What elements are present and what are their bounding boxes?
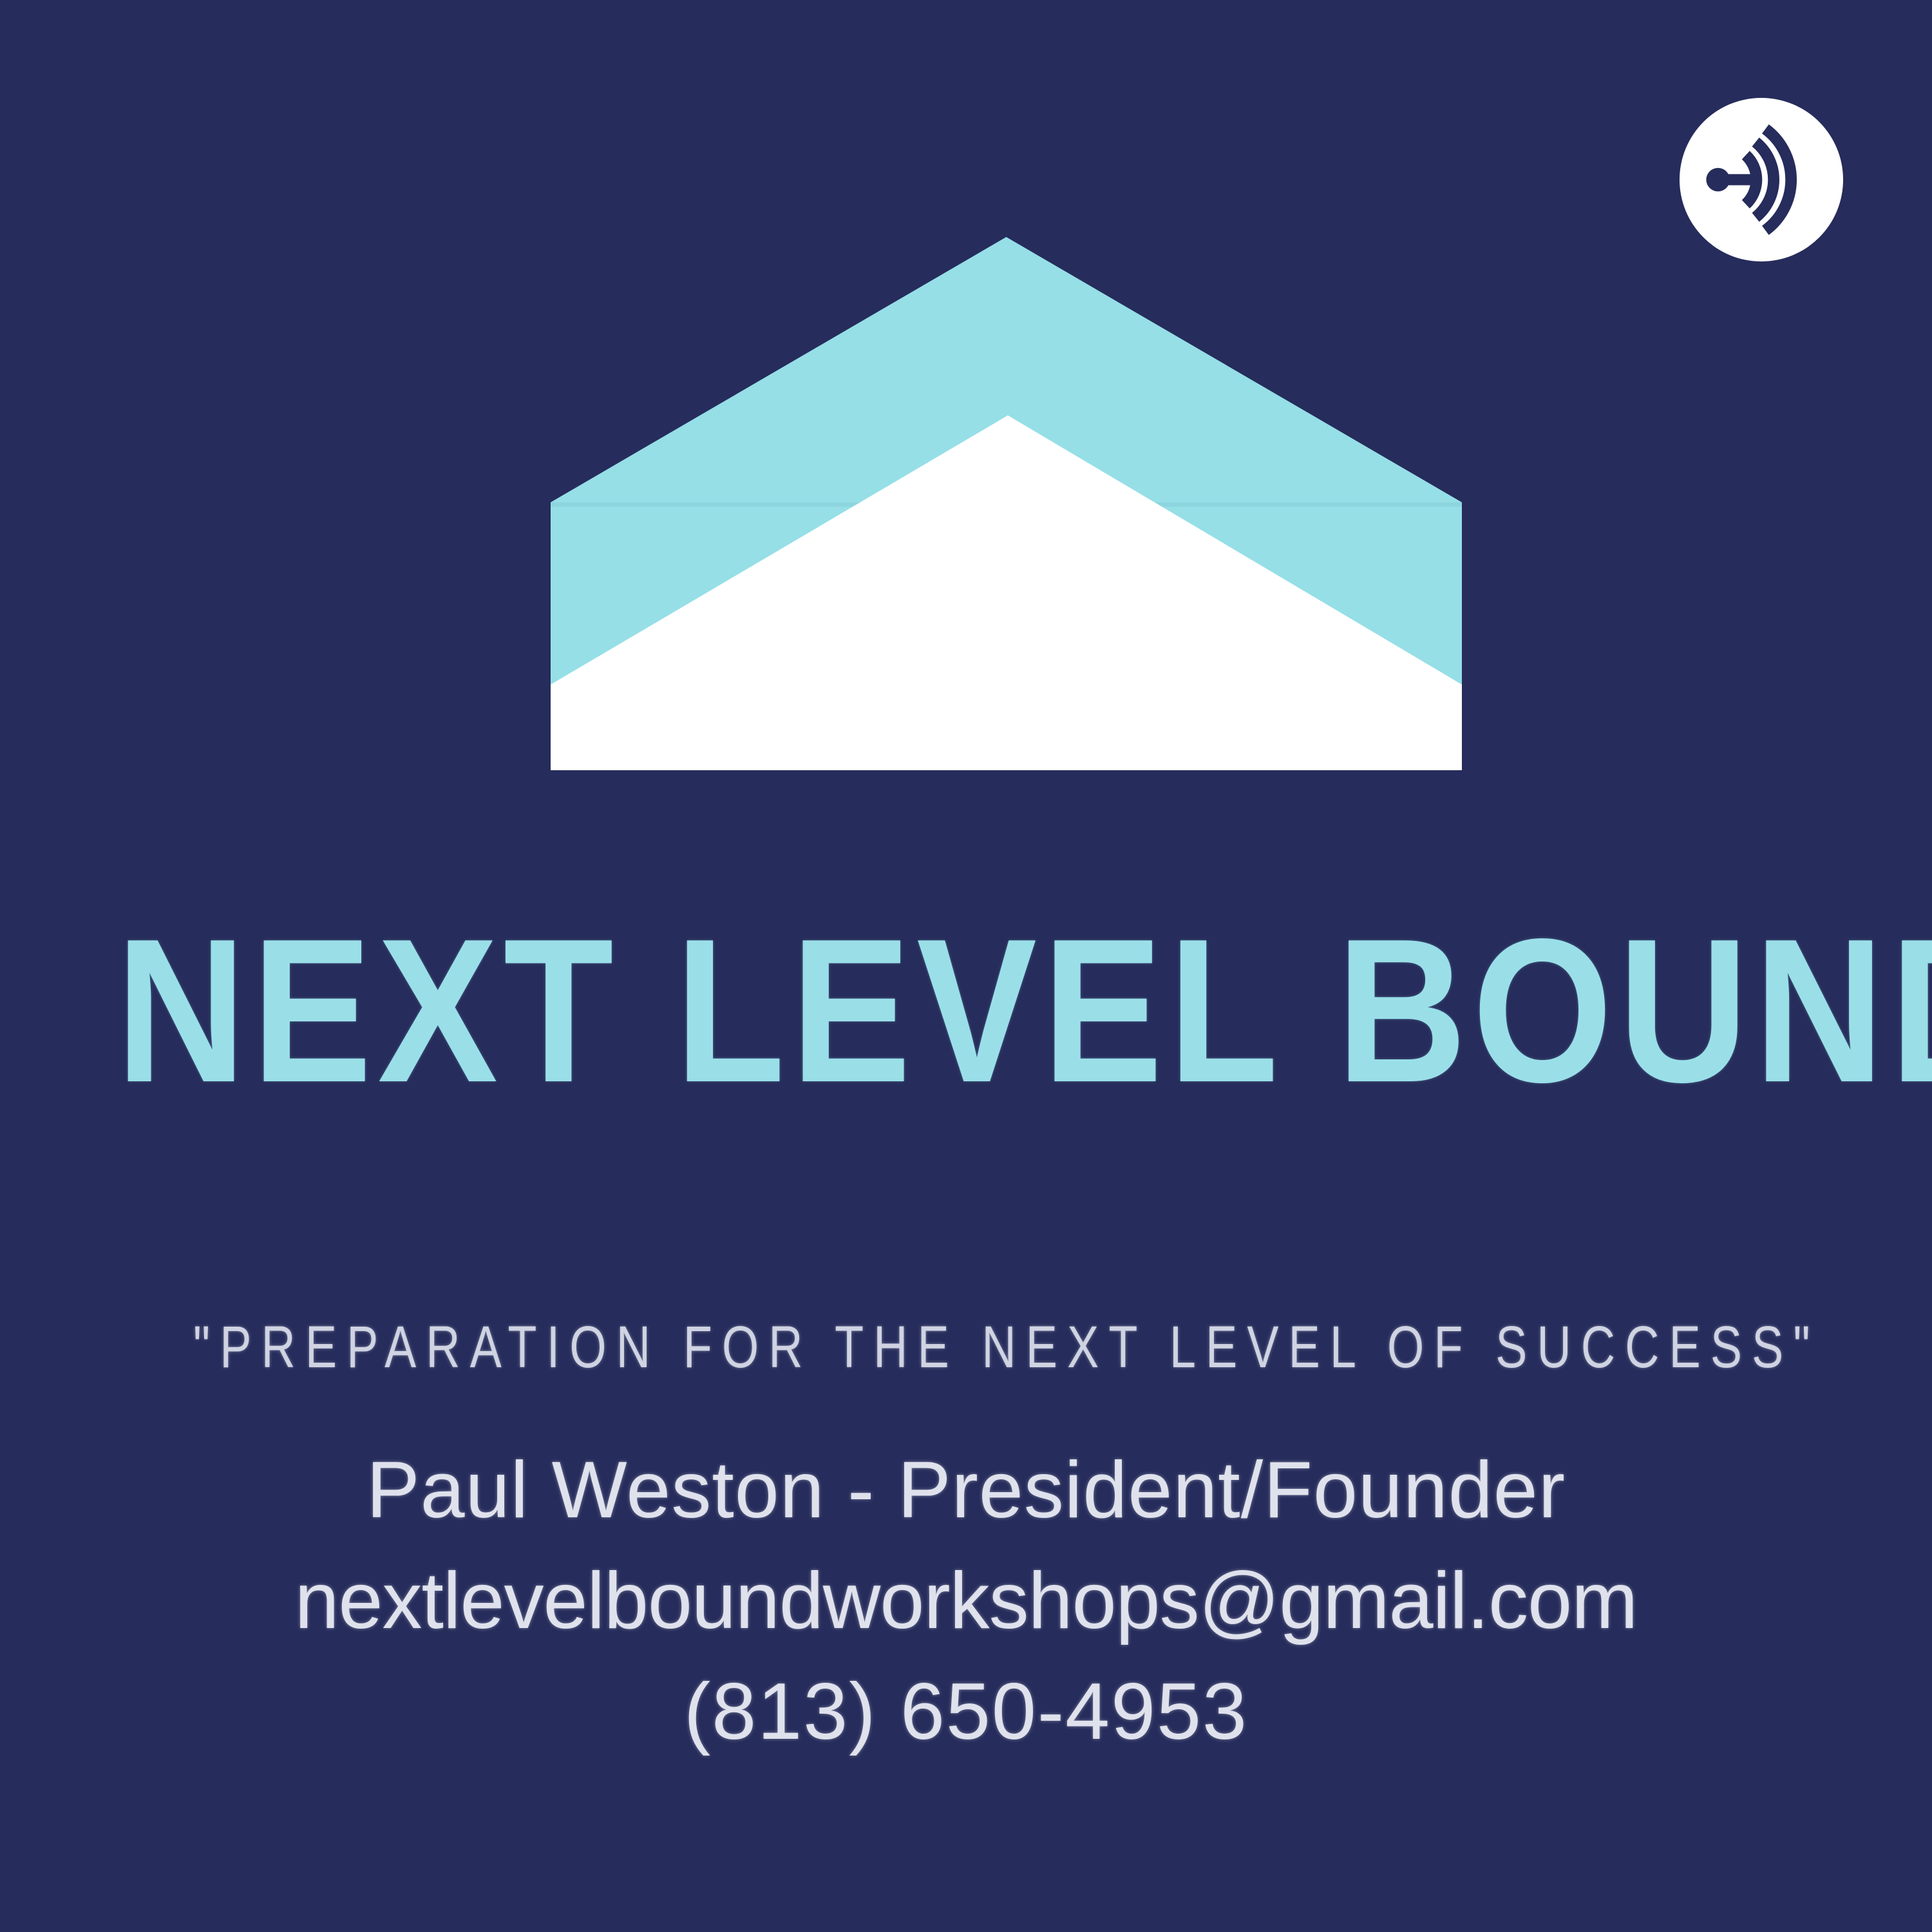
contact-email[interactable]: nextlevelboundworkshops@gmail.com: [0, 1546, 1932, 1656]
next-level-bound-logo: [551, 237, 1462, 770]
chevron-logo-shape: [551, 237, 1462, 770]
contact-phone[interactable]: (813) 650-4953: [0, 1656, 1932, 1767]
contact-name-title: Paul Weston - President/Founder: [0, 1435, 1932, 1546]
contact-block: Paul Weston - President/Founder nextleve…: [0, 1435, 1932, 1767]
broadcast-wave-icon: [1680, 98, 1843, 261]
podcast-platform-badge[interactable]: [1680, 98, 1843, 261]
logo-base: [551, 726, 1462, 770]
brand-wordmark: NEXT LEVEL BOUND: [116, 905, 1816, 1117]
brand-tagline: "PREPARATION FOR THE NEXT LEVEL OF SUCCE…: [193, 1315, 1739, 1379]
podcast-cover-art: NEXT LEVEL BOUND "PREPARATION FOR THE NE…: [0, 0, 1932, 1932]
